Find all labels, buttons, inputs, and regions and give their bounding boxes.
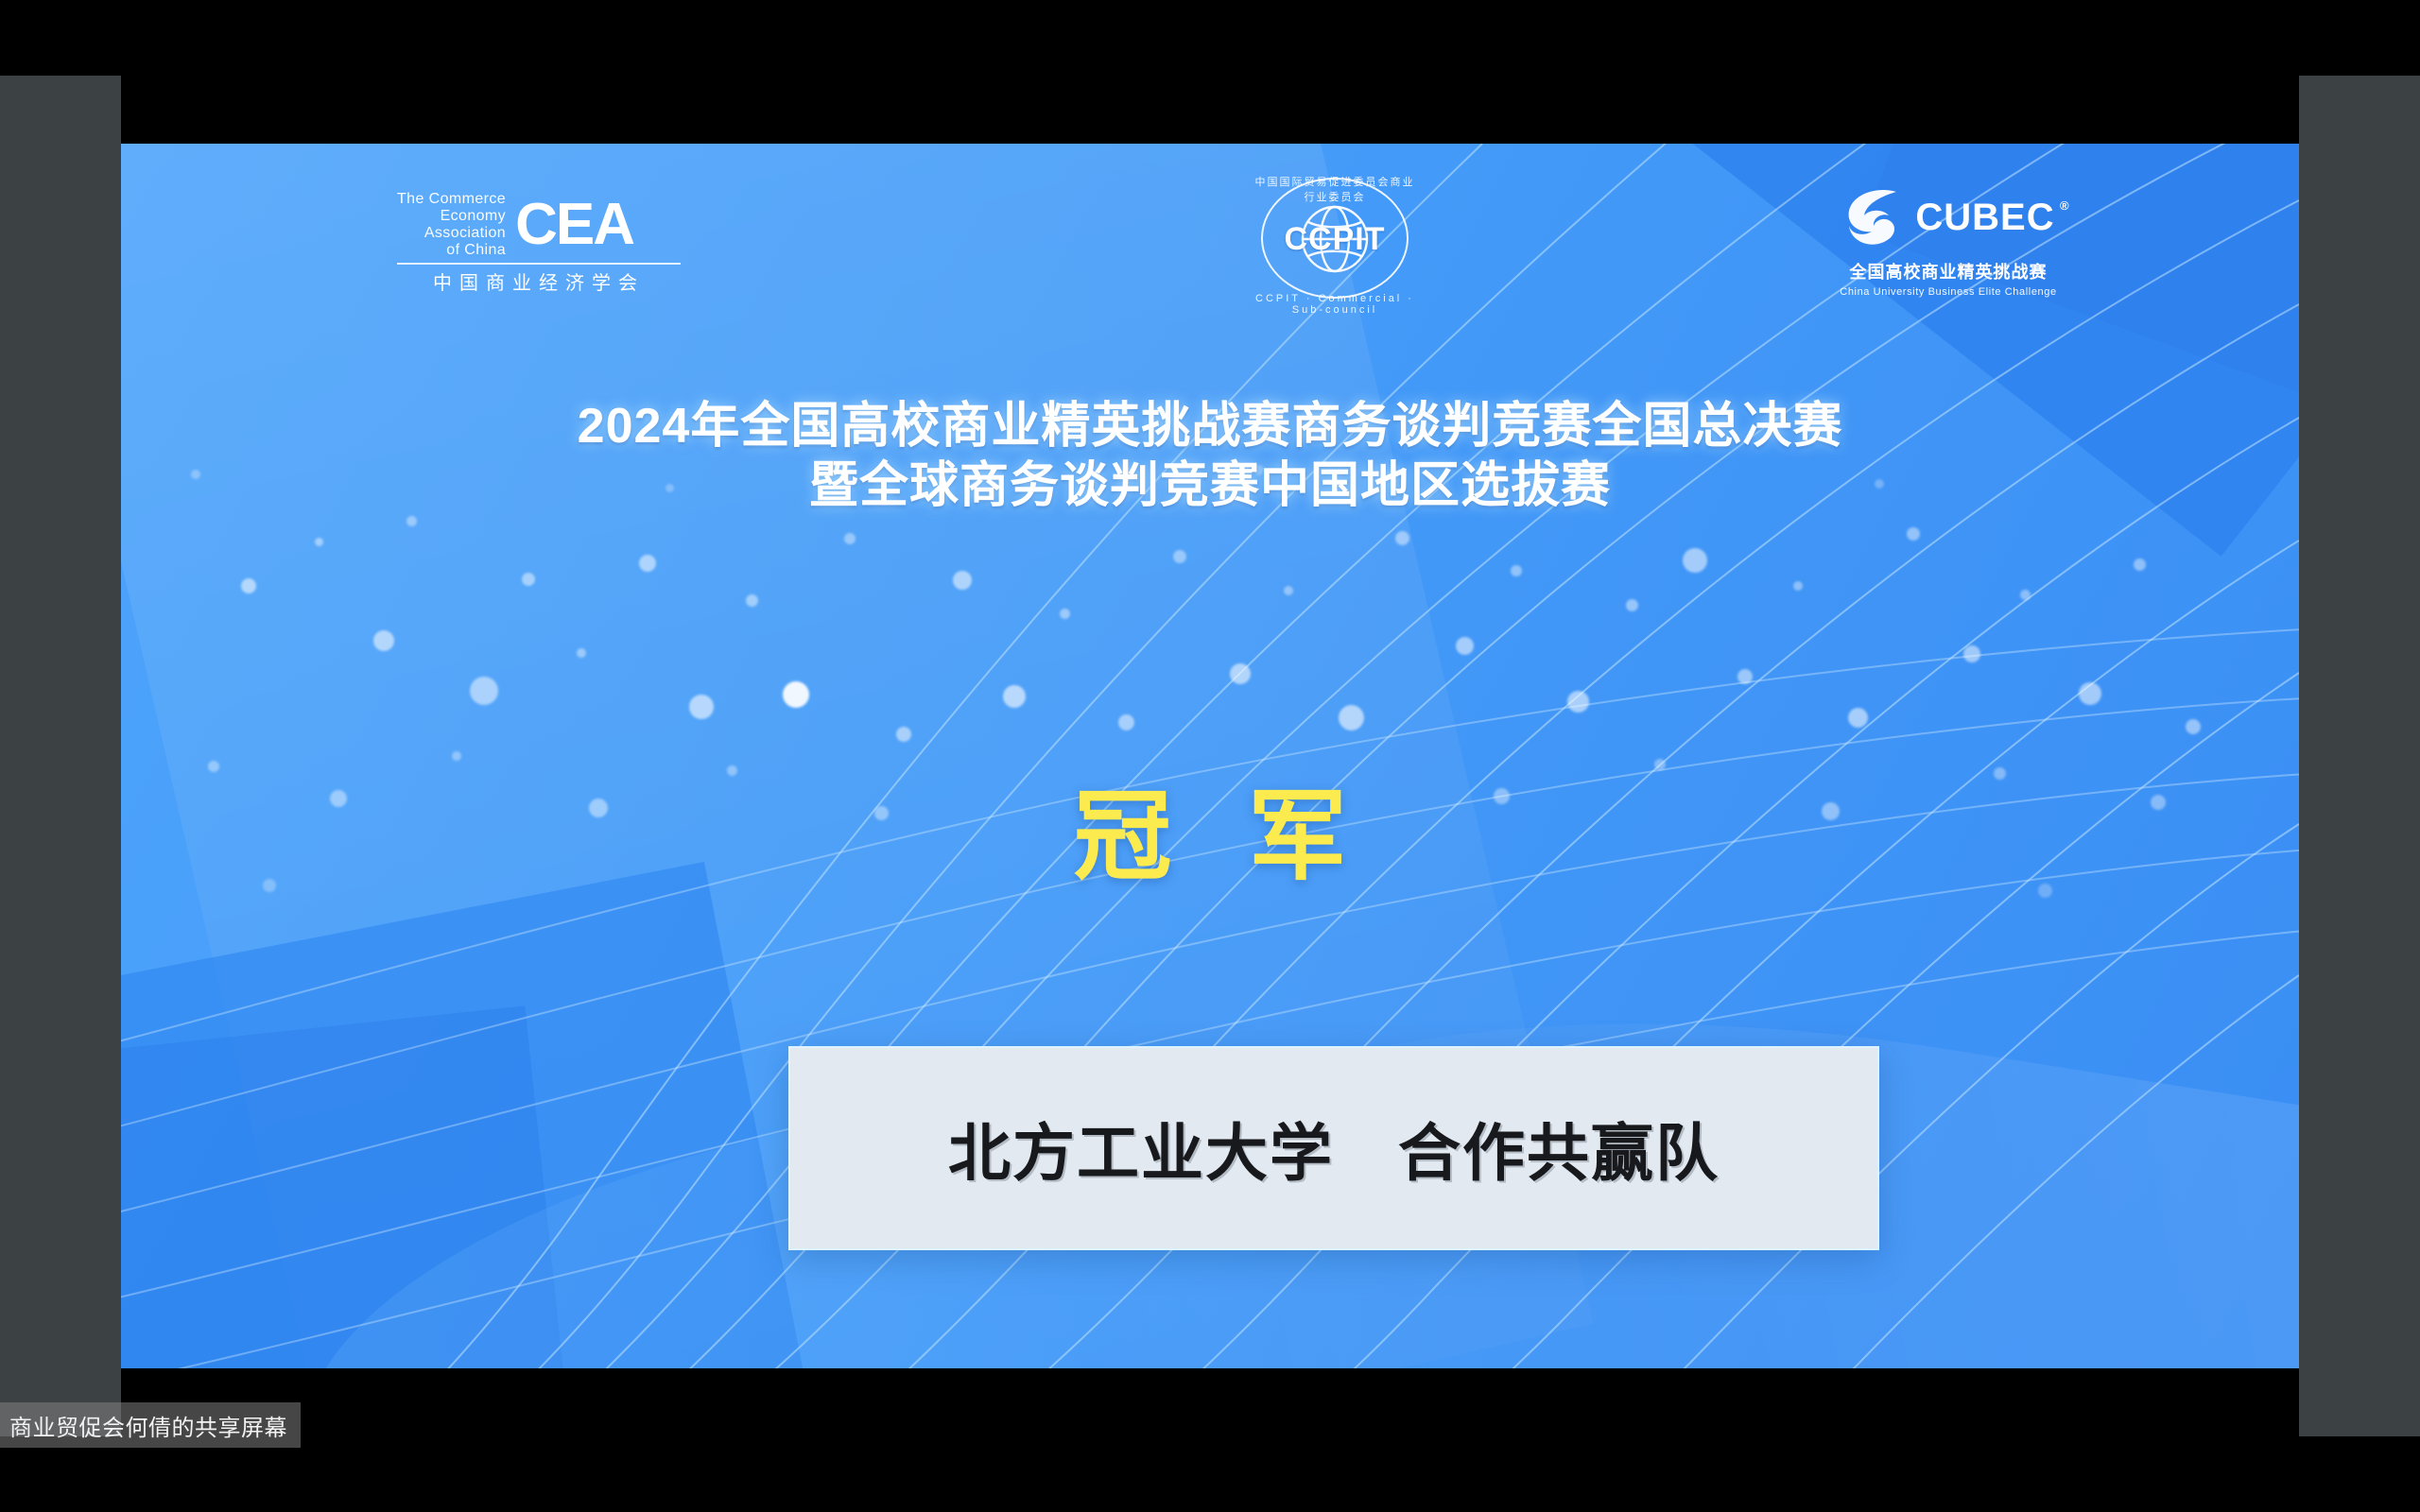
meeting-sidebar-left xyxy=(0,76,121,1436)
winner-plate: 北方工业大学 合作共赢队 xyxy=(788,1046,1879,1250)
ccpit-wordmark: CCPIT xyxy=(1252,221,1418,258)
slide-title-block: 2024年全国高校商业精英挑战赛商务谈判竞赛全国总决赛 暨全球商务谈判竞赛中国地… xyxy=(121,397,2299,517)
cubec-wordmark: CUBEC ® xyxy=(1915,197,2054,239)
ccpit-arc-top-text: 中国国际贸易促进委员会商业行业委员会 xyxy=(1252,174,1418,204)
screen: The Commerce Economy Association of Chin… xyxy=(0,0,2420,1512)
ccpit-logo: 中国国际贸易促进委员会商业行业委员会 CCPIT CCPIT · Commerc… xyxy=(1252,168,1418,319)
cea-wordmark: CEA xyxy=(515,198,633,251)
slide-title-line-2: 暨全球商务谈判竞赛中国地区选拔赛 xyxy=(121,456,2299,516)
shared-screen-slide: The Commerce Economy Association of Chin… xyxy=(121,144,2299,1368)
cea-logo: The Commerce Economy Association of Chin… xyxy=(397,191,681,295)
registered-icon: ® xyxy=(2060,198,2070,213)
cubec-chinese-name: 全国高校商业精英挑战赛 xyxy=(1840,259,2057,283)
award-label: 冠 军 xyxy=(121,788,2299,886)
meeting-sidebar-right xyxy=(2299,76,2420,1436)
share-status-label: 商业贸促会何倩的共享屏幕 xyxy=(0,1402,301,1448)
share-status-text: 商业贸促会何倩的共享屏幕 xyxy=(9,1409,287,1442)
cea-chinese-name: 中国商业经济学会 xyxy=(397,267,681,295)
cubec-logo: CUBEC ® 全国高校商业精英挑战赛 China University Bus… xyxy=(1840,178,2057,319)
cea-divider xyxy=(397,263,681,265)
slide-title-line-1: 2024年全国高校商业精英挑战赛商务谈判竞赛全国总决赛 xyxy=(121,397,2299,456)
logo-row: The Commerce Economy Association of Chin… xyxy=(121,144,2299,323)
winner-name: 北方工业大学 合作共赢队 xyxy=(948,1103,1720,1194)
cea-english-name: The Commerce Economy Association of Chin… xyxy=(397,191,506,259)
ccpit-arc-bottom-text: CCPIT · Commercial · Sub-council xyxy=(1252,293,1418,316)
cubec-wordmark-text: CUBEC xyxy=(1915,197,2054,238)
swoosh-icon xyxy=(1841,184,1911,250)
cubec-english-name: China University Business Elite Challeng… xyxy=(1840,286,2057,298)
